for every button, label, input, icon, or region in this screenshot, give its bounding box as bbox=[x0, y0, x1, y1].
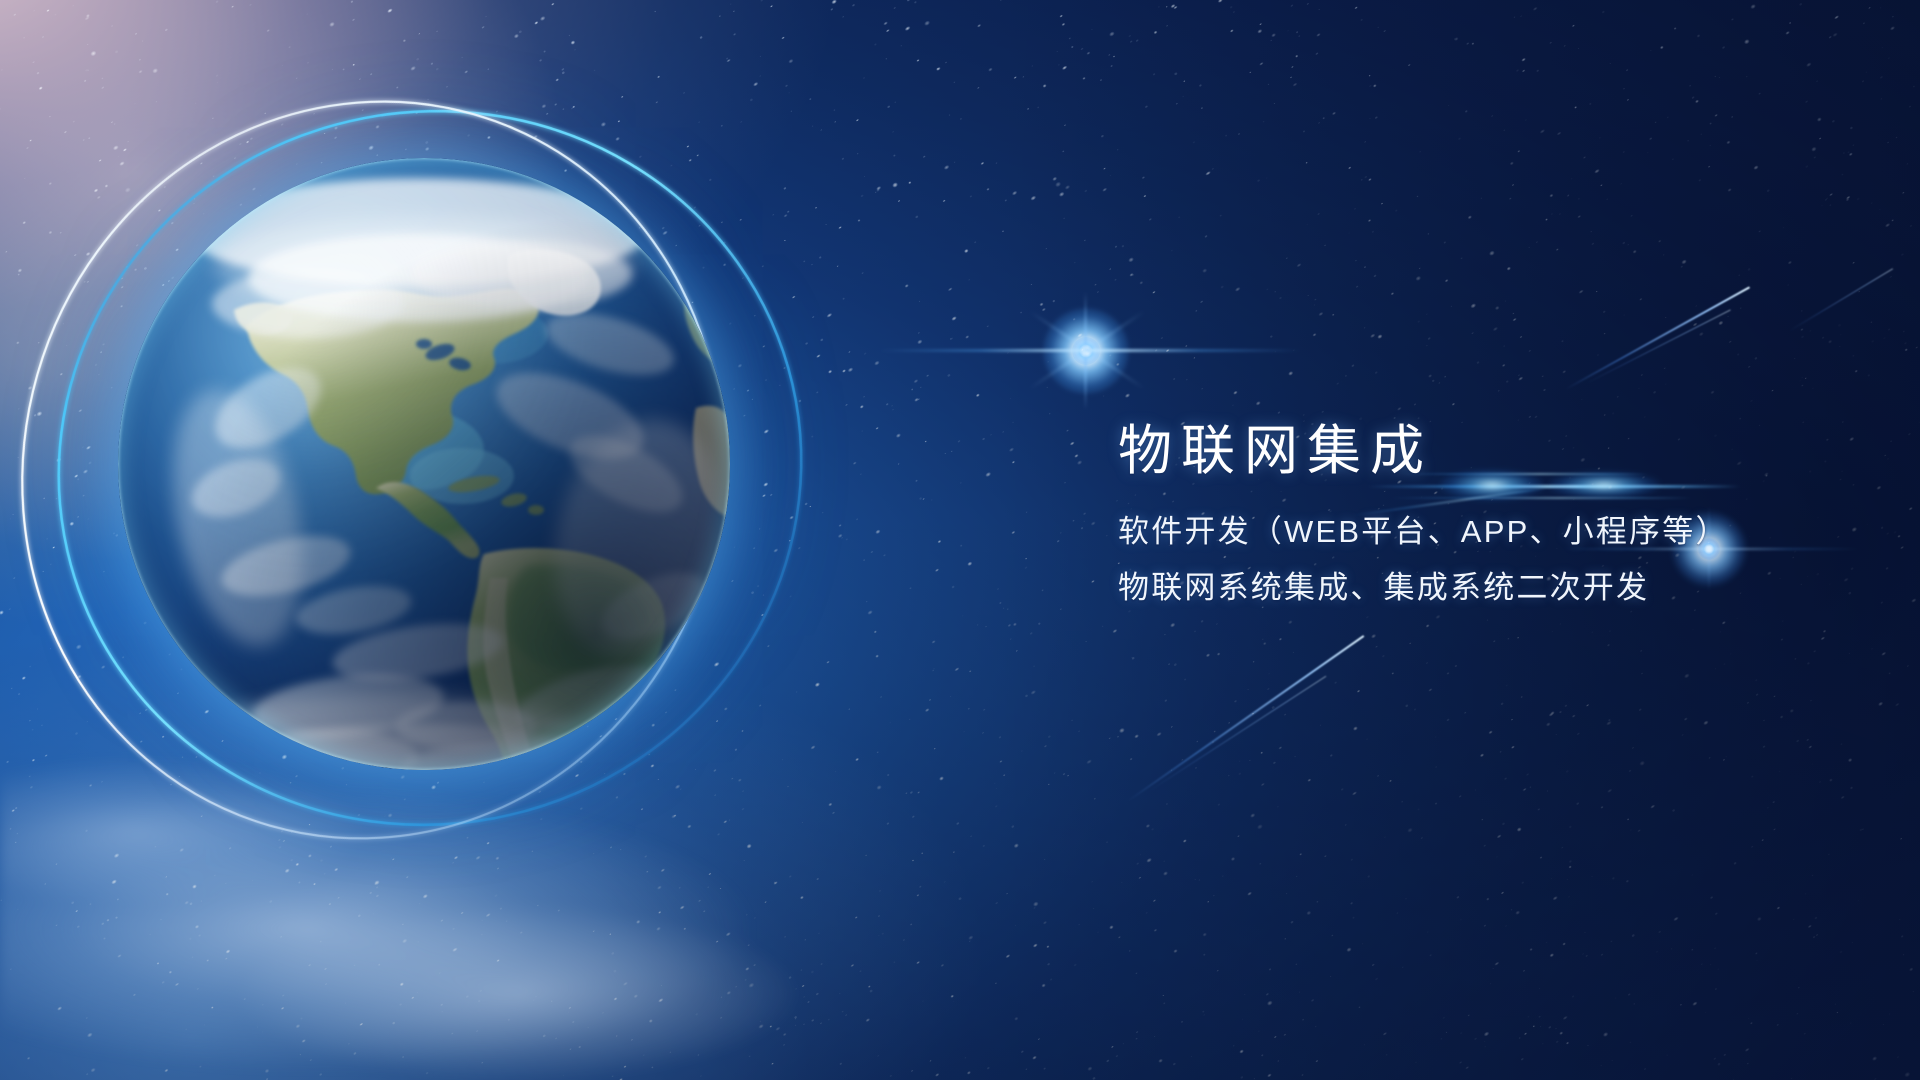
page-title: 物联网集成 bbox=[1118, 418, 1858, 484]
earth-globe bbox=[118, 158, 730, 770]
hero-banner: 物联网集成 软件开发（WEB平台、APP、小程序等） 物联网系统集成、集成系统二… bbox=[0, 0, 1920, 1080]
banner-copy: 物联网集成 软件开发（WEB平台、APP、小程序等） 物联网系统集成、集成系统二… bbox=[1118, 418, 1858, 614]
globe-rim-light bbox=[118, 158, 730, 770]
subtitle-line-2: 物联网系统集成、集成系统二次开发 bbox=[1118, 562, 1858, 614]
globe-sphere bbox=[118, 158, 730, 770]
subtitle-line-1: 软件开发（WEB平台、APP、小程序等） bbox=[1118, 506, 1858, 558]
